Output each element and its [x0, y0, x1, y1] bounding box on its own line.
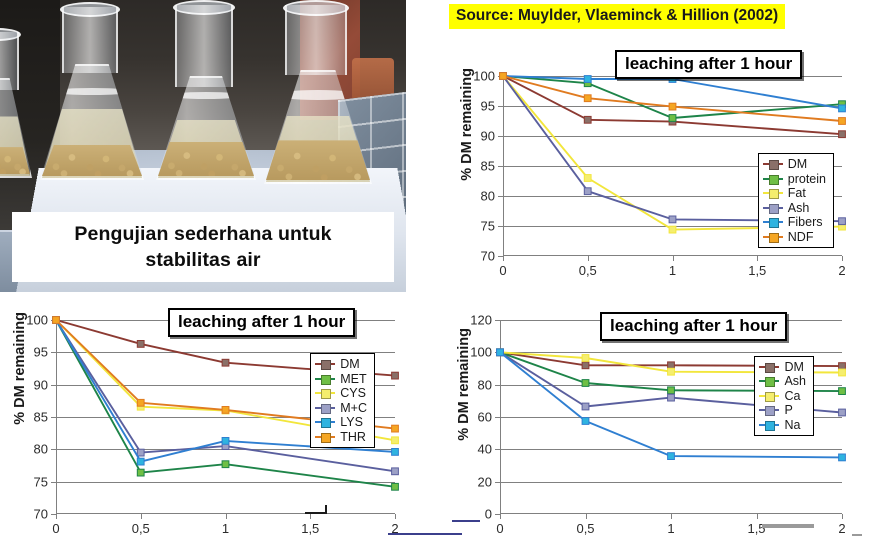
data-point	[584, 116, 591, 123]
x-axis-tick	[395, 514, 396, 519]
chart-minerals-leaching: % DM remaining02040608010012000,511,52le…	[452, 302, 870, 552]
x-axis-tick	[842, 514, 843, 519]
data-point	[137, 469, 144, 476]
legend-label: Ash	[784, 374, 806, 388]
data-point	[582, 380, 589, 387]
legend-swatch	[763, 192, 783, 194]
data-point	[839, 105, 846, 112]
x-axis-tick	[141, 514, 142, 519]
chart-legend: DMproteinFatAshFibersNDF	[758, 153, 834, 248]
flask-1	[40, 2, 140, 180]
flask-pellets	[266, 140, 370, 180]
data-point	[137, 449, 144, 456]
data-point	[669, 226, 676, 233]
artifact-bracket-left-chart	[305, 512, 327, 514]
x-axis-tick	[586, 514, 587, 519]
y-axis-tick-label: 80	[481, 189, 495, 204]
y-axis-tick-label: 95	[34, 345, 48, 360]
flask-meniscus	[274, 90, 361, 100]
artifact-bracket-left-chart-tick	[325, 505, 327, 514]
flask-partial-left	[0, 28, 28, 178]
x-axis-tick-label: 0,5	[576, 521, 594, 536]
data-point	[839, 218, 846, 225]
x-axis-tick-label: 0	[496, 521, 503, 536]
y-axis-title: % DM remaining	[12, 312, 28, 425]
data-point	[668, 362, 675, 369]
flask-pellets	[0, 147, 30, 174]
legend-label: Ash	[788, 201, 810, 215]
y-axis-tick-label: 100	[26, 313, 48, 328]
legend-label: M+C	[340, 401, 367, 415]
data-point	[668, 394, 675, 401]
data-point	[392, 437, 399, 444]
legend-item[interactable]: DM	[763, 157, 826, 172]
legend-swatch	[763, 178, 783, 180]
x-axis-tick-label: 1	[669, 263, 676, 278]
chart-legend: DMMETCYSM+CLYSTHR	[310, 353, 375, 448]
legend-swatch	[759, 424, 779, 426]
x-axis-tick-label: 0	[499, 263, 506, 278]
legend-swatch	[763, 236, 783, 238]
y-axis-tick-label: 70	[481, 249, 495, 264]
flask-2	[156, 0, 252, 180]
data-point	[668, 387, 675, 394]
data-point	[222, 359, 229, 366]
y-axis-tick-label: 85	[481, 159, 495, 174]
data-point	[392, 483, 399, 490]
data-point	[669, 216, 676, 223]
data-point	[839, 409, 846, 416]
photo-caption-box: Pengujian sederhana untuk stabilitas air	[12, 212, 394, 282]
chart-title: leaching after 1 hour	[615, 50, 802, 79]
x-axis-tick-label: 1	[222, 521, 229, 536]
data-point	[222, 438, 229, 445]
y-axis-tick-label: 90	[481, 129, 495, 144]
y-axis-tick-label: 80	[34, 442, 48, 457]
legend-label: DM	[788, 157, 807, 171]
legend-swatch	[759, 380, 779, 382]
legend-label: Na	[784, 418, 800, 432]
x-axis-tick	[671, 514, 672, 519]
legend-item[interactable]: Na	[759, 418, 806, 433]
legend-swatch	[759, 409, 779, 411]
data-point	[839, 369, 846, 376]
chart-title: leaching after 1 hour	[600, 312, 787, 341]
legend-item[interactable]: protein	[763, 172, 826, 187]
x-axis-tick	[500, 514, 501, 519]
legend-label: NDF	[788, 230, 814, 244]
legend-label: THR	[340, 430, 366, 444]
artifact-bar-gray-bottom	[762, 524, 814, 528]
data-point	[582, 362, 589, 369]
data-point	[53, 317, 60, 324]
flask-body	[156, 76, 256, 180]
flask-pellets	[42, 145, 142, 176]
x-axis-tick	[588, 256, 589, 261]
legend-swatch	[315, 363, 335, 365]
legend-item[interactable]: Fibers	[763, 215, 826, 230]
artifact-dash-after-two	[852, 534, 862, 536]
flask-body	[0, 78, 32, 178]
legend-label: P	[784, 403, 792, 417]
legend-swatch	[759, 395, 779, 397]
data-point	[582, 403, 589, 410]
data-point	[584, 188, 591, 195]
photo-caption-line-1: Pengujian sederhana untuk	[74, 221, 331, 247]
data-point	[584, 95, 591, 102]
legend-swatch	[315, 378, 335, 380]
data-point	[584, 76, 591, 83]
y-axis-title: % DM remaining	[459, 68, 475, 181]
data-point	[839, 388, 846, 395]
artifact-line-blue-right	[452, 520, 480, 522]
data-point	[500, 73, 507, 80]
y-axis-tick-label: 60	[478, 410, 492, 425]
x-axis-tick	[757, 256, 758, 261]
legend-label: Fat	[788, 186, 806, 200]
y-axis-tick-label: 95	[481, 99, 495, 114]
y-axis-tick-label: 80	[478, 377, 492, 392]
legend-item[interactable]: Ash	[763, 201, 826, 216]
x-axis-tick-label: 1	[667, 521, 674, 536]
legend-item[interactable]: DM	[315, 357, 367, 372]
data-point	[584, 175, 591, 182]
legend-label: MET	[340, 372, 366, 386]
legend-item[interactable]: MET	[315, 372, 367, 387]
legend-item[interactable]: NDF	[763, 230, 826, 245]
source-citation-banner: Source: Muylder, Vlaeminck & Hillion (20…	[449, 4, 785, 29]
y-axis-tick-label: 100	[473, 69, 495, 84]
x-axis-tick	[310, 514, 311, 519]
data-point	[839, 131, 846, 138]
legend-swatch	[763, 207, 783, 209]
y-axis-tick-label: 0	[485, 507, 492, 522]
data-point	[137, 458, 144, 465]
chart-nutrients-leaching: % DM remaining70758085909510000,511,52le…	[455, 62, 870, 290]
data-point	[839, 118, 846, 125]
legend-swatch	[763, 163, 783, 165]
data-point	[392, 425, 399, 432]
flask-pellets	[158, 142, 254, 176]
x-axis-tick	[757, 514, 758, 519]
legend-label: Ca	[784, 389, 800, 403]
chart-amino-acids-leaching: % DM remaining70758085909510000,511,52le…	[8, 302, 423, 552]
y-axis-tick-label: 75	[481, 219, 495, 234]
flask-body	[40, 64, 144, 180]
x-axis-tick-label: 0,5	[579, 263, 597, 278]
data-point	[497, 349, 504, 356]
legend-swatch	[315, 421, 335, 423]
y-axis-tick-label: 90	[34, 377, 48, 392]
chart-title: leaching after 1 hour	[168, 308, 355, 337]
photo-caption-line-2: stabilitas air	[145, 247, 260, 273]
plot-area: 02040608010012000,511,52leaching after 1…	[500, 320, 842, 514]
x-axis-tick	[56, 514, 57, 519]
legend-label: protein	[788, 172, 826, 186]
x-axis-tick	[226, 514, 227, 519]
data-point	[582, 418, 589, 425]
legend-label: CYS	[340, 386, 366, 400]
x-axis-tick-label: 0,5	[132, 521, 150, 536]
data-point	[137, 399, 144, 406]
data-point	[222, 407, 229, 414]
data-point	[137, 341, 144, 348]
flask-3	[264, 0, 368, 184]
flask-meniscus	[166, 92, 247, 99]
legend-item[interactable]: Ash	[759, 374, 806, 389]
data-point	[669, 115, 676, 122]
x-axis-tick-label: 0	[52, 521, 59, 536]
legend-item[interactable]: Ca	[759, 389, 806, 404]
legend-label: DM	[340, 357, 359, 371]
x-axis-tick-label: 1,5	[301, 521, 319, 536]
x-axis-tick-label: 2	[838, 521, 845, 536]
data-point	[582, 355, 589, 362]
legend-swatch	[763, 221, 783, 223]
x-axis-tick	[673, 256, 674, 261]
data-point	[669, 103, 676, 110]
water-stability-photo: Pengujian sederhana untuk stabilitas air	[0, 0, 406, 292]
flask-neck	[285, 5, 347, 75]
x-axis-tick-label: 2	[838, 263, 845, 278]
legend-item[interactable]: CYS	[315, 386, 367, 401]
x-axis-tick	[842, 256, 843, 261]
data-point	[392, 372, 399, 379]
legend-item[interactable]: LYS	[315, 415, 367, 430]
y-axis-tick-label: 120	[470, 313, 492, 328]
legend-swatch	[315, 407, 335, 409]
legend-item[interactable]: P	[759, 403, 806, 418]
data-point	[392, 449, 399, 456]
legend-item[interactable]: M+C	[315, 401, 367, 416]
data-point	[668, 368, 675, 375]
y-axis-tick-label: 85	[34, 410, 48, 425]
chart-legend: DMAshCaPNa	[754, 356, 814, 437]
flask-body	[264, 70, 372, 184]
legend-swatch	[759, 366, 779, 368]
y-axis-tick-label: 75	[34, 474, 48, 489]
y-axis-tick-label: 70	[34, 507, 48, 522]
data-point	[222, 461, 229, 468]
plot-area: 70758085909510000,511,52leaching after 1…	[56, 320, 395, 514]
legend-label: DM	[784, 360, 803, 374]
data-point	[668, 453, 675, 460]
data-point	[392, 468, 399, 475]
flask-meniscus	[50, 88, 134, 95]
legend-swatch	[315, 436, 335, 438]
plot-area: 70758085909510000,511,52leaching after 1…	[503, 76, 842, 256]
legend-item[interactable]: Fat	[763, 186, 826, 201]
x-axis-tick	[503, 256, 504, 261]
data-point	[839, 363, 846, 370]
legend-swatch	[315, 392, 335, 394]
legend-item[interactable]: THR	[315, 430, 367, 445]
legend-item[interactable]: DM	[759, 360, 806, 375]
y-axis-tick-label: 40	[478, 442, 492, 457]
flask-neck	[175, 5, 233, 87]
legend-label: Fibers	[788, 215, 823, 229]
legend-label: LYS	[340, 415, 363, 429]
y-axis-tick-label: 20	[478, 474, 492, 489]
y-axis-tick-label: 100	[470, 345, 492, 360]
data-point	[839, 454, 846, 461]
x-axis-tick-label: 1,5	[748, 263, 766, 278]
flask-neck	[62, 7, 118, 73]
artifact-line-blue-left	[388, 533, 462, 535]
